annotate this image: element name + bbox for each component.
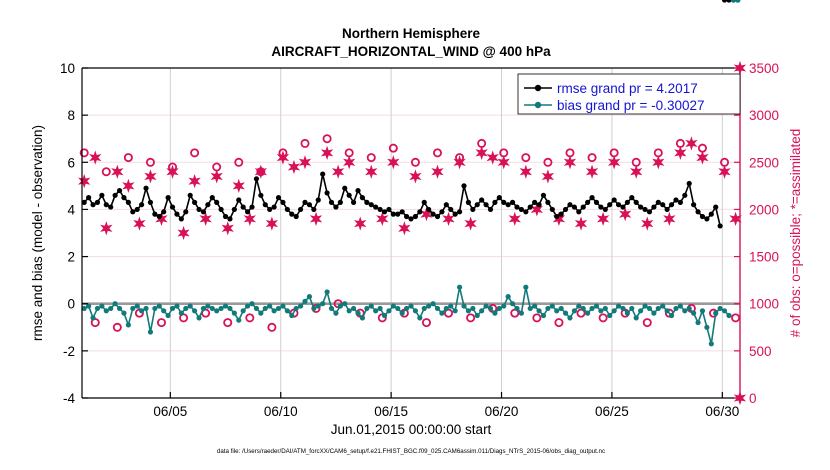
bias-point — [90, 315, 95, 320]
bias-point — [585, 311, 590, 316]
rmse-point — [598, 204, 603, 209]
bias-point — [347, 308, 352, 313]
tick-label-x: 06/05 — [153, 404, 187, 419]
bias-point — [333, 311, 338, 316]
rmse-point — [656, 200, 661, 205]
bias-point — [201, 306, 206, 311]
bias-point — [276, 306, 281, 311]
bias-point — [254, 306, 259, 311]
rmse-point — [687, 181, 692, 186]
rmse-point — [245, 209, 250, 214]
rmse-point — [426, 207, 431, 212]
rmse-point — [302, 200, 307, 205]
bias-point — [404, 306, 409, 311]
bias-point — [678, 303, 683, 308]
bias-point — [691, 311, 696, 316]
rmse-point — [483, 202, 488, 207]
rmse-point — [669, 202, 674, 207]
rmse-point — [422, 200, 427, 205]
bias-point — [232, 311, 237, 316]
tick-label-right: 500 — [749, 344, 772, 359]
bias-point — [360, 315, 365, 320]
rmse-point — [665, 207, 670, 212]
bias-point — [174, 303, 179, 308]
rmse-point — [121, 195, 126, 200]
rmse-point — [554, 214, 559, 219]
rmse-point — [324, 190, 329, 195]
rmse-point — [682, 193, 687, 198]
rmse-point — [311, 207, 316, 212]
rmse-point — [201, 209, 206, 214]
rmse-point — [612, 197, 617, 202]
rmse-point — [99, 193, 104, 198]
bias-point — [95, 306, 100, 311]
rmse-point — [104, 202, 109, 207]
bias-point — [576, 303, 581, 308]
bias-point — [642, 303, 647, 308]
rmse-point — [249, 204, 254, 209]
bias-point — [589, 306, 594, 311]
bias-point — [272, 308, 277, 313]
bias-point — [294, 306, 299, 311]
rmse-point — [457, 209, 462, 214]
rmse-point — [528, 204, 533, 209]
rmse-point — [497, 195, 502, 200]
rmse-point — [152, 212, 157, 217]
rmse-point — [567, 202, 572, 207]
bias-point — [695, 320, 700, 325]
bias-point — [629, 306, 634, 311]
tick-label-right: 2000 — [749, 202, 779, 217]
rmse-point — [691, 202, 696, 207]
tick-label-right: 3000 — [749, 108, 779, 123]
rmse-point — [492, 200, 497, 205]
bias-point — [183, 306, 188, 311]
rmse-point — [395, 212, 400, 217]
rmse-point — [514, 204, 519, 209]
bias-point — [126, 322, 131, 327]
bias-point — [461, 303, 466, 308]
rmse-point — [333, 204, 338, 209]
tick-label-left: 10 — [60, 61, 75, 76]
rmse-point — [205, 202, 210, 207]
rmse-point — [386, 207, 391, 212]
bias-point — [121, 311, 126, 316]
rmse-point — [148, 200, 153, 205]
rmse-point — [453, 212, 458, 217]
rmse-point — [267, 207, 272, 212]
bias-point — [316, 303, 321, 308]
rmse-point — [188, 193, 193, 198]
rmse-point — [210, 195, 215, 200]
rmse-point — [642, 207, 647, 212]
bias-point — [413, 308, 418, 313]
rmse-point — [86, 195, 91, 200]
bias-point — [157, 303, 162, 308]
bias-point — [99, 303, 104, 308]
rmse-point — [629, 195, 634, 200]
rmse-point — [355, 188, 360, 193]
bias-point — [651, 311, 656, 316]
rmse-point — [479, 197, 484, 202]
bias-point — [320, 301, 325, 306]
rmse-point — [214, 200, 219, 205]
bias-point — [444, 306, 449, 311]
rmse-point — [360, 195, 365, 200]
tick-label-left: 8 — [67, 108, 75, 123]
tick-label-left: -4 — [63, 391, 75, 406]
bias-point — [457, 285, 462, 290]
rmse-point — [95, 200, 100, 205]
bias-point — [572, 308, 577, 313]
bias-point — [161, 308, 166, 313]
chart-legend[interactable]: rmse grand pr = 4.2017 bias grand pr = -… — [518, 74, 740, 114]
bias-point — [563, 311, 568, 316]
rmse-point — [559, 212, 564, 217]
bias-point — [143, 306, 148, 311]
rmse-point — [298, 207, 303, 212]
bias-point — [612, 308, 617, 313]
bias-point — [285, 308, 290, 313]
rmse-point — [117, 188, 122, 193]
rmse-point — [223, 214, 228, 219]
rmse-point — [678, 200, 683, 205]
bias-point — [665, 308, 670, 313]
bias-point — [559, 306, 564, 311]
tick-label-x: 06/10 — [264, 404, 298, 419]
bias-point — [656, 306, 661, 311]
rmse-point — [413, 214, 418, 219]
x-axis-label: Jun.01,2015 00:00:00 start — [331, 422, 492, 437]
tick-label-left: 2 — [67, 250, 75, 265]
rmse-point — [713, 204, 718, 209]
tick-label-left: -2 — [63, 344, 75, 359]
bias-point — [267, 303, 272, 308]
rmse-point — [320, 171, 325, 176]
rmse-point — [263, 202, 268, 207]
rmse-point — [510, 200, 515, 205]
rmse-point — [219, 207, 224, 212]
bias-point — [638, 308, 643, 313]
bias-point — [148, 329, 153, 334]
rmse-point — [258, 193, 263, 198]
rmse-point — [157, 214, 162, 219]
chart-title: Northern Hemisphere — [342, 26, 481, 41]
rmse-point — [342, 186, 347, 191]
rmse-point — [589, 195, 594, 200]
rmse-point — [174, 212, 179, 217]
bias-point — [245, 303, 250, 308]
bias-point — [687, 306, 692, 311]
bias-point — [682, 308, 687, 313]
bias-point — [117, 306, 122, 311]
rmse-point — [519, 207, 524, 212]
rmse-point — [113, 193, 118, 198]
bias-point — [713, 311, 718, 316]
bias-point — [113, 301, 118, 306]
tick-label-left: 4 — [67, 202, 75, 217]
bias-point — [519, 311, 524, 316]
bias-point — [324, 289, 329, 294]
bias-point — [501, 303, 506, 308]
rmse-point — [638, 204, 643, 209]
bias-point — [492, 311, 497, 316]
bias-point — [369, 303, 374, 308]
bias-point — [426, 303, 431, 308]
rmse-point — [603, 207, 608, 212]
bias-point — [152, 306, 157, 311]
bias-point — [307, 294, 312, 299]
rmse-point — [329, 200, 334, 205]
bias-point — [554, 308, 559, 313]
bias-point — [528, 306, 533, 311]
bias-point — [227, 306, 232, 311]
rmse-point — [704, 216, 709, 221]
tick-label-x: 06/20 — [485, 404, 519, 419]
chart-subtitle: AIRCRAFT_HORIZONTAL_WIND @ 400 hPa — [271, 44, 551, 59]
rmse-point — [135, 207, 140, 212]
figure-background — [0, 0, 830, 470]
rmse-point — [523, 209, 528, 214]
rmse-point — [108, 204, 113, 209]
rmse-point — [161, 209, 166, 214]
bias-point — [210, 306, 215, 311]
bias-point — [311, 306, 316, 311]
bias-point — [263, 306, 268, 311]
bias-point — [351, 306, 356, 311]
rmse-point — [351, 200, 356, 205]
bias-point — [130, 306, 135, 311]
bias-point — [581, 306, 586, 311]
bias-point — [700, 308, 705, 313]
rmse-point — [143, 186, 148, 191]
y-axis-label-left: rmse and bias (model - observation) — [30, 125, 45, 341]
bias-point — [497, 306, 502, 311]
rmse-point — [183, 209, 188, 214]
bias-point — [523, 285, 528, 290]
rmse-point — [545, 200, 550, 205]
rmse-point — [382, 209, 387, 214]
bias-point — [408, 303, 413, 308]
bias-point — [382, 313, 387, 318]
rmse-point — [475, 202, 480, 207]
bias-point — [400, 311, 405, 316]
legend-swatch-bias-marker — [535, 102, 541, 108]
bias-point — [422, 306, 427, 311]
rmse-point — [307, 202, 312, 207]
rmse-point — [541, 193, 546, 198]
rmse-point — [616, 202, 621, 207]
rmse-point — [179, 216, 184, 221]
rmse-point — [563, 207, 568, 212]
rmse-point — [461, 183, 466, 188]
rmse-point — [536, 202, 541, 207]
bias-point — [625, 311, 630, 316]
bias-point — [196, 315, 201, 320]
rmse-point — [285, 207, 290, 212]
rmse-point — [196, 207, 201, 212]
rmse-point — [364, 200, 369, 205]
rmse-point — [232, 207, 237, 212]
bias-point — [192, 308, 197, 313]
rmse-point — [585, 200, 590, 205]
rmse-point — [417, 209, 422, 214]
bias-point — [214, 308, 219, 313]
legend-label-rmse: rmse grand pr = 4.2017 — [557, 81, 698, 96]
rmse-point — [130, 209, 135, 214]
rmse-point — [316, 197, 321, 202]
bias-point — [342, 301, 347, 306]
rmse-point — [430, 212, 435, 217]
bias-point — [603, 306, 608, 311]
rmse-point — [338, 200, 343, 205]
bias-point — [223, 303, 228, 308]
rmse-point — [435, 214, 440, 219]
bias-point — [417, 315, 422, 320]
rmse-point — [192, 200, 197, 205]
rmse-point — [581, 204, 586, 209]
rmse-point — [294, 214, 299, 219]
rmse-point — [400, 209, 405, 214]
rmse-point — [377, 207, 382, 212]
bias-point — [718, 306, 723, 311]
bias-point — [598, 308, 603, 313]
bias-point — [536, 308, 541, 313]
bias-point — [188, 303, 193, 308]
rmse-point — [369, 202, 374, 207]
bias-point — [722, 308, 727, 313]
bias-point — [704, 325, 709, 330]
legend-swatch-rmse-marker — [535, 85, 541, 91]
bias-point — [135, 303, 140, 308]
rmse-point — [700, 214, 705, 219]
bias-point — [550, 303, 555, 308]
rmse-point — [448, 207, 453, 212]
bias-point — [466, 308, 471, 313]
bias-point — [377, 306, 382, 311]
rmse-point — [647, 209, 652, 214]
bias-point — [329, 306, 334, 311]
bias-point — [488, 306, 493, 311]
rmse-point — [550, 207, 555, 212]
rmse-point — [501, 200, 506, 205]
bias-point — [483, 303, 488, 308]
bias-point — [219, 306, 224, 311]
rmse-point — [660, 202, 665, 207]
bias-point — [545, 306, 550, 311]
tick-label-x: 06/25 — [595, 404, 629, 419]
rmse-point — [166, 195, 171, 200]
rmse-point — [709, 212, 714, 217]
bias-point — [435, 306, 440, 311]
bias-point — [298, 303, 303, 308]
bias-point — [104, 308, 109, 313]
bias-point — [673, 306, 678, 311]
rmse-point — [227, 216, 232, 221]
bias-point — [280, 303, 285, 308]
bias-point — [634, 315, 639, 320]
rmse-point — [506, 202, 511, 207]
bias-point — [607, 313, 612, 318]
bias-point — [448, 303, 453, 308]
bias-point — [302, 299, 307, 304]
bias-point — [510, 301, 515, 306]
rmse-point — [170, 204, 175, 209]
rmse-point — [90, 202, 95, 207]
bias-point — [616, 303, 621, 308]
rmse-point — [466, 200, 471, 205]
bias-point — [108, 306, 113, 311]
rmse-point — [470, 207, 475, 212]
bias-point — [479, 308, 484, 313]
bias-point — [139, 308, 144, 313]
tick-label-x: 06/30 — [705, 404, 739, 419]
rmse-point — [718, 223, 723, 228]
rmse-point — [594, 200, 599, 205]
bias-point — [236, 318, 241, 323]
rmse-point — [276, 195, 281, 200]
rmse-point — [634, 200, 639, 205]
y-axis-label-right: # of obs: o=possible; *=assimilated — [788, 129, 803, 338]
rmse-point — [126, 200, 131, 205]
bias-point — [475, 313, 480, 318]
rmse-point — [254, 176, 259, 181]
tick-label-x: 06/15 — [374, 404, 408, 419]
bias-point — [364, 306, 369, 311]
bias-point — [514, 306, 519, 311]
tick-label-right: 3500 — [749, 61, 779, 76]
rmse-point — [241, 204, 246, 209]
bias-point — [386, 308, 391, 313]
legend-label-bias: bias grand pr = -0.30027 — [557, 98, 704, 113]
rmse-point — [625, 200, 630, 205]
bias-point — [249, 301, 254, 306]
rmse-point — [289, 212, 294, 217]
bias-point — [289, 313, 294, 318]
rmse-point — [272, 204, 277, 209]
bias-point — [506, 294, 511, 299]
rmse-point — [695, 209, 700, 214]
rmse-point — [139, 202, 144, 207]
rmse-point — [607, 202, 612, 207]
bias-point — [355, 311, 360, 316]
tick-label-left: 0 — [67, 297, 75, 312]
bias-point — [541, 313, 546, 318]
bias-point — [453, 308, 458, 313]
bias-point — [241, 308, 246, 313]
rmse-point — [408, 216, 413, 221]
bias-point — [179, 311, 184, 316]
rmse-point — [488, 207, 493, 212]
bias-point — [205, 303, 210, 308]
bias-point — [166, 313, 171, 318]
rmse-point — [347, 193, 352, 198]
tick-label-right: 1000 — [749, 297, 779, 312]
observation-diagnostics-chart: Northern Hemisphere AIRCRAFT_HORIZONTAL_… — [0, 0, 830, 470]
tick-label-right: 1500 — [749, 250, 779, 265]
rmse-point — [373, 204, 378, 209]
rmse-point — [439, 209, 444, 214]
bias-point — [709, 341, 714, 346]
bias-point — [470, 306, 475, 311]
bias-point — [439, 311, 444, 316]
rmse-point — [673, 197, 678, 202]
footer-data-file: data file: /Users/raeder/DAI/ATM_forcXX/… — [217, 448, 605, 455]
rmse-point — [280, 200, 285, 205]
bias-point — [620, 306, 625, 311]
bias-point — [391, 303, 396, 308]
rmse-point — [620, 204, 625, 209]
